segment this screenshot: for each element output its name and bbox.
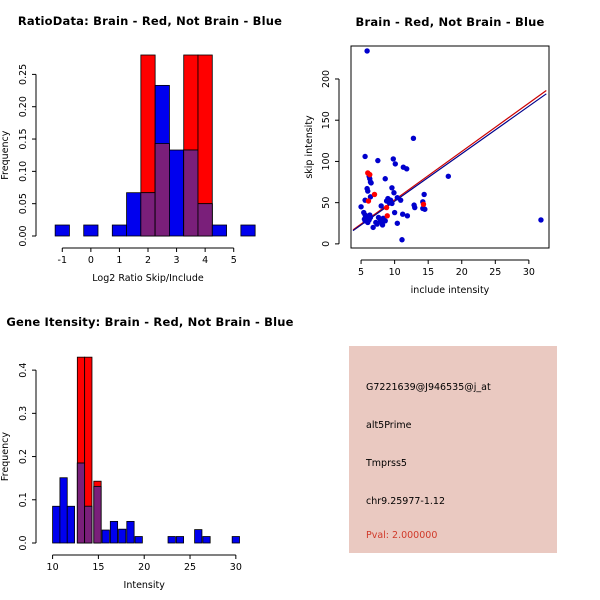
y-tick-label: 100 <box>321 152 332 170</box>
x-tick-label: 20 <box>138 562 150 573</box>
histogram-bar-overlap <box>85 506 92 543</box>
scatter-data-area <box>353 48 546 242</box>
x-tick-label: 20 <box>456 267 468 278</box>
x-tick-label: 2 <box>145 255 151 266</box>
scatter-point <box>379 203 384 208</box>
gene-intensity-panel: Gene Itensity: Brain - Red, Not Brain - … <box>0 300 300 600</box>
y-tick-label: 0.25 <box>18 64 29 85</box>
histogram-bar-overlap <box>184 150 198 236</box>
y-tick-label: 0.05 <box>18 193 29 214</box>
histogram-bar-overlap <box>141 193 155 236</box>
histogram-bar-overlap <box>198 204 212 236</box>
histogram-bar-blue <box>212 225 226 236</box>
scatter-point <box>374 221 379 226</box>
x-tick-label: 30 <box>523 267 535 278</box>
x-tick-label: 4 <box>202 255 208 266</box>
y-tick-label: 0 <box>321 241 332 247</box>
x-tick-label: 1 <box>116 255 122 266</box>
scatter-point <box>372 192 377 197</box>
histogram-bar-blue <box>176 537 183 543</box>
y-axis-label: Frequency <box>0 130 11 179</box>
x-tick-label: -1 <box>58 255 67 266</box>
scatter-point <box>364 48 369 53</box>
x-axis-label: Intensity <box>124 580 166 591</box>
scatter-point <box>385 213 390 218</box>
y-tick-label: 0.2 <box>18 449 29 464</box>
x-tick-label: 5 <box>231 255 237 266</box>
x-axis-label: include intensity <box>411 285 490 296</box>
gene-intensity-title: Gene Itensity: Brain - Red, Not Brain - … <box>0 315 300 329</box>
scatter-point <box>366 198 371 203</box>
scatter-point <box>367 172 372 177</box>
histogram-bar-blue <box>84 225 98 236</box>
histogram-bar-blue <box>112 225 126 236</box>
scatter-point <box>358 204 363 209</box>
scatter-point <box>365 220 370 225</box>
y-tick-label: 0.3 <box>18 406 29 421</box>
histogram-bar-blue <box>53 506 60 543</box>
histogram-bar-blue <box>102 530 109 543</box>
scatter-point <box>392 210 397 215</box>
gene-intensity-svg: 1015202530Intensity0.00.10.20.30.4Freque… <box>0 300 300 600</box>
scatter-point <box>395 221 400 226</box>
histogram-bar-blue <box>119 529 126 543</box>
x-tick-label: 25 <box>489 267 501 278</box>
probe-id-text: G7221639@J946535@j_at <box>366 382 491 393</box>
histogram-bar-blue <box>195 530 202 543</box>
scatter-point <box>446 174 451 179</box>
x-tick-label: 0 <box>88 255 94 266</box>
scatter-point <box>405 213 410 218</box>
x-tick-label: 15 <box>92 562 104 573</box>
histogram-bar-blue <box>135 537 142 543</box>
intensity-scatter-title: Brain - Red, Not Brain - Blue <box>300 15 600 29</box>
ratio-histogram-svg: -1012345Log2 Ratio Skip/Include0.000.050… <box>0 0 300 300</box>
locus-text: chr9.25977-1.12 <box>366 496 445 507</box>
histogram-bar-blue <box>169 150 183 236</box>
scatter-point <box>400 211 405 216</box>
scatter-point <box>421 202 426 207</box>
scatter-point <box>365 188 370 193</box>
scatter-point <box>404 166 409 171</box>
scatter-point <box>389 201 394 206</box>
scatter-point <box>393 161 398 166</box>
scatter-point <box>398 197 403 202</box>
scatter-point <box>375 158 380 163</box>
x-tick-label: 15 <box>422 267 434 278</box>
scatter-point <box>538 217 543 222</box>
histogram-bar-overlap <box>155 144 169 236</box>
y-tick-label: 150 <box>321 111 332 129</box>
y-tick-label: 0.00 <box>18 225 29 246</box>
intensity-scatter-panel: Brain - Red, Not Brain - Blue 5101520253… <box>300 0 600 300</box>
histogram-bar-blue <box>67 506 74 543</box>
histogram-bar-blue <box>232 537 239 543</box>
ratio-histogram-panel: RatioData: Brain - Red, Not Brain - Blue… <box>0 0 300 300</box>
x-tick-label: 10 <box>389 267 401 278</box>
gene-info-box: G7221639@J946535@j_at alt5Prime Tmprss5 … <box>349 346 557 553</box>
scatter-point <box>389 185 394 190</box>
histogram-bar-blue <box>60 478 67 543</box>
y-tick-label: 0.10 <box>18 161 29 182</box>
event-type-text: alt5Prime <box>366 420 411 431</box>
scatter-point <box>391 156 396 161</box>
scatter-point <box>391 190 396 195</box>
histogram-bar-blue <box>110 521 117 543</box>
histogram-bar-overlap <box>94 486 101 543</box>
x-tick-label: 5 <box>358 267 364 278</box>
x-axis-label: Log2 Ratio Skip/Include <box>92 273 204 284</box>
intensity-scatter-svg: 51015202530include intensity050100150200… <box>300 0 600 300</box>
y-tick-label: 0.0 <box>18 535 29 550</box>
x-tick-label: 25 <box>184 562 196 573</box>
y-tick-label: 0.15 <box>18 128 29 149</box>
scatter-point <box>411 136 416 141</box>
scatter-point <box>384 205 389 210</box>
ratio-histogram-title: RatioData: Brain - Red, Not Brain - Blue <box>0 14 300 28</box>
y-tick-label: 50 <box>321 197 332 209</box>
y-tick-label: 0.20 <box>18 96 29 117</box>
y-tick-label: 0.1 <box>18 492 29 507</box>
regression-line <box>353 91 546 230</box>
histogram-bar-blue <box>168 537 175 543</box>
pval-text: Pval: 2.000000 <box>366 530 437 541</box>
x-tick-label: 30 <box>230 562 242 573</box>
regression-line <box>353 94 546 231</box>
y-tick-label: 200 <box>321 70 332 88</box>
histogram-bar-overlap <box>77 463 84 543</box>
scatter-point <box>383 176 388 181</box>
scatter-point <box>412 205 417 210</box>
histogram-bar-blue <box>203 537 210 543</box>
scatter-point <box>368 180 373 185</box>
histogram-bar-blue <box>127 521 134 543</box>
scatter-point <box>368 215 373 220</box>
histogram-bar-blue <box>55 225 69 236</box>
scatter-point <box>399 237 404 242</box>
gene-symbol-text: Tmprss5 <box>366 458 407 469</box>
scatter-point <box>362 154 367 159</box>
y-axis-label: Frequency <box>0 432 11 481</box>
y-axis-label: skip intensity <box>304 115 315 179</box>
scatter-point <box>421 192 426 197</box>
histogram-bar-blue <box>127 193 141 236</box>
gene-info-panel: G7221639@J946535@j_at alt5Prime Tmprss5 … <box>300 300 600 600</box>
scatter-point <box>380 222 385 227</box>
x-tick-label: 3 <box>174 255 180 266</box>
histogram-bar-blue <box>241 225 255 236</box>
x-tick-label: 10 <box>47 562 59 573</box>
y-tick-label: 0.4 <box>18 363 29 378</box>
